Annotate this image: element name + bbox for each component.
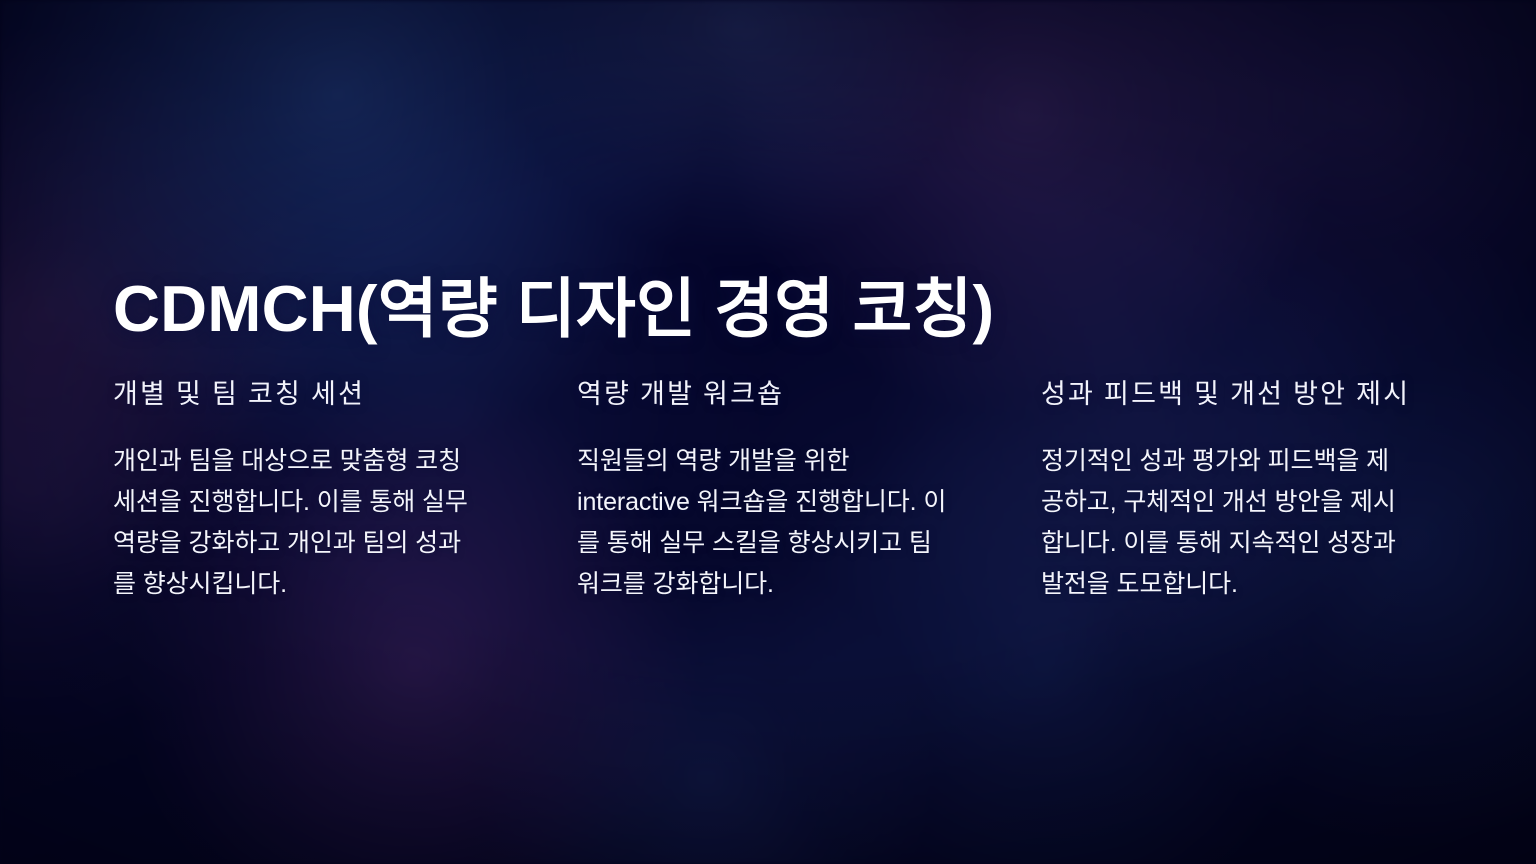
feature-heading: 성과 피드백 및 개선 방안 제시 bbox=[1041, 378, 1411, 412]
feature-body: 정기적인 성과 평가와 피드백을 제공하고, 구체적인 개선 방안을 제시합니다… bbox=[1041, 441, 1411, 605]
slide-content: CDMCH(역량 디자인 경영 코칭) 개별 및 팀 코칭 세션 개인과 팀을 … bbox=[0, 0, 1536, 864]
feature-column-2: 역량 개발 워크숍 직원들의 역량 개발을 위한 interactive 워크숍… bbox=[577, 378, 947, 605]
feature-columns: 개별 및 팀 코칭 세션 개인과 팀을 대상으로 맞춤형 코칭 세션을 진행합니… bbox=[113, 378, 1423, 605]
feature-heading: 역량 개발 워크숍 bbox=[577, 378, 947, 412]
feature-column-3: 성과 피드백 및 개선 방안 제시 정기적인 성과 평가와 피드백을 제공하고,… bbox=[1041, 378, 1411, 605]
feature-column-1: 개별 및 팀 코칭 세션 개인과 팀을 대상으로 맞춤형 코칭 세션을 진행합니… bbox=[113, 378, 483, 605]
feature-body: 개인과 팀을 대상으로 맞춤형 코칭 세션을 진행합니다. 이를 통해 실무 역… bbox=[113, 441, 483, 605]
presentation-slide: CDMCH(역량 디자인 경영 코칭) 개별 및 팀 코칭 세션 개인과 팀을 … bbox=[0, 0, 1536, 864]
feature-body: 직원들의 역량 개발을 위한 interactive 워크숍을 진행합니다. 이… bbox=[577, 441, 947, 605]
page-title: CDMCH(역량 디자인 경영 코칭) bbox=[113, 272, 994, 347]
feature-heading: 개별 및 팀 코칭 세션 bbox=[113, 378, 483, 412]
